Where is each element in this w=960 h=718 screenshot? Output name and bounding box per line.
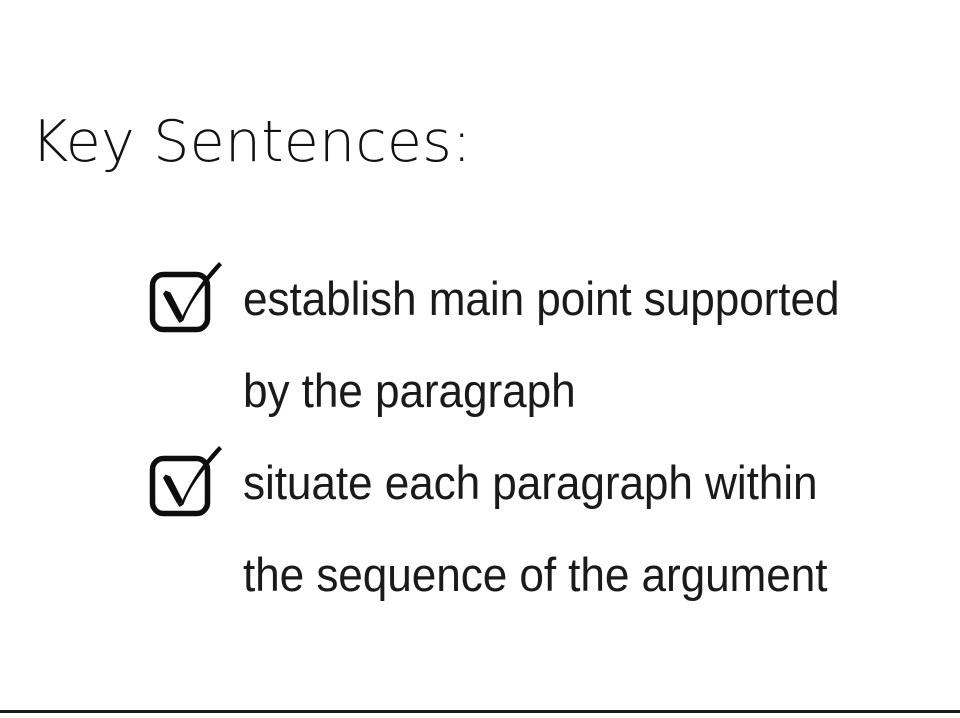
list-item: situate each paragraph within [0, 436, 960, 528]
list-item: the sequence of the argument [0, 528, 960, 620]
checked-checkbox-icon [143, 438, 227, 518]
list-item: establish main point supported [0, 252, 960, 344]
list-item: by the paragraph [0, 344, 960, 436]
slide-bottom-divider [0, 710, 960, 713]
page-title: Key Sentences: [31, 112, 472, 174]
list-item-label: situate each paragraph within [243, 436, 817, 528]
list-item-label: the sequence of the argument [243, 528, 827, 620]
presentation-slide: Key Sentences: establish main point supp… [0, 0, 960, 718]
list-item-label: by the paragraph [243, 344, 576, 436]
key-sentences-list: establish main point supported by the pa… [0, 252, 960, 620]
checked-checkbox-icon [143, 254, 227, 334]
list-item-label: establish main point supported [243, 252, 839, 344]
